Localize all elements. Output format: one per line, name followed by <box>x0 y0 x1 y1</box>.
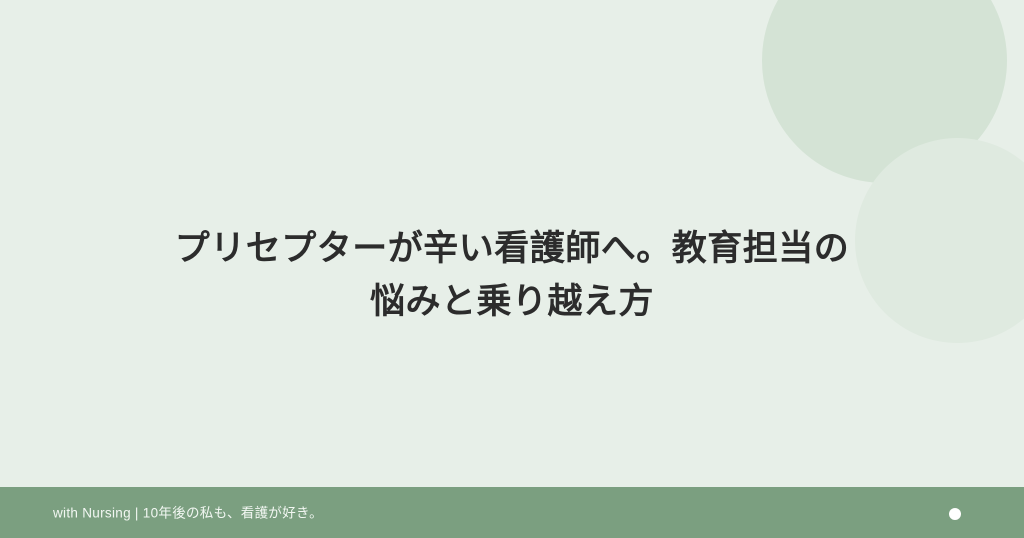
slide-title: プリセプターが辛い看護師へ。教育担当の 悩みと乗り越え方 <box>80 222 944 328</box>
decorative-circle-large <box>762 0 1007 183</box>
footer-dot-indicator <box>949 508 961 520</box>
slide-title-block: プリセプターが辛い看護師へ。教育担当の 悩みと乗り越え方 <box>0 222 1024 328</box>
footer-brand-text: with Nursing | 10年後の私も、看護が好き。 <box>53 506 323 520</box>
footer-bar: with Nursing | 10年後の私も、看護が好き。 <box>0 487 1024 538</box>
presentation-slide: プリセプターが辛い看護師へ。教育担当の 悩みと乗り越え方 with Nursin… <box>0 0 1024 538</box>
